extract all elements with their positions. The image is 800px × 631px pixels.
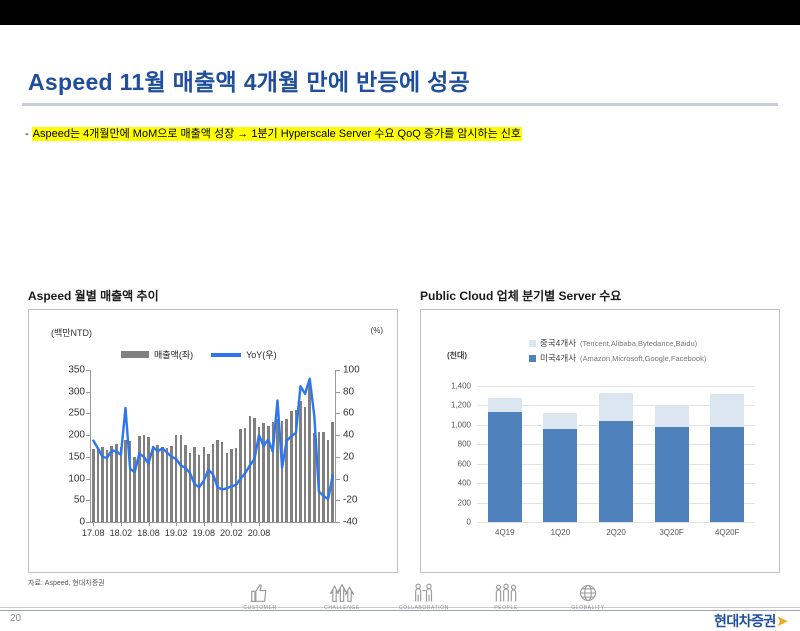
legend-sub-us: (Amazon,Microsoft,Google,Facebook) bbox=[580, 351, 706, 366]
legend-item-revenue: 매출액(좌) bbox=[121, 348, 193, 361]
y-tick-label: 1,400 bbox=[451, 382, 471, 391]
x-tick-label: 20.02 bbox=[220, 528, 243, 538]
y2-tickmark bbox=[336, 413, 340, 414]
bar-swatch-icon bbox=[121, 351, 149, 358]
y2-tickmark bbox=[336, 392, 340, 393]
logo-mark-icon: ➤ bbox=[776, 613, 788, 630]
people-together-icon bbox=[381, 583, 467, 605]
x-category-label: 2Q20 bbox=[606, 528, 626, 537]
core-value-people: PEOPLE bbox=[463, 583, 549, 611]
legend-item-yoy: YoY(우) bbox=[211, 348, 276, 361]
y2-tickmark bbox=[336, 435, 340, 436]
right-y-tick: 0 bbox=[343, 473, 349, 484]
y-tick-label: 800 bbox=[458, 440, 471, 449]
bar-segment-us bbox=[599, 421, 633, 522]
gridline bbox=[477, 522, 755, 523]
right-chart-box: (천대) 중국4개사 (Tencent,Alibaba,Bytedance,Ba… bbox=[420, 309, 780, 573]
y2-tickmark bbox=[336, 457, 340, 458]
y-tickmark bbox=[86, 522, 90, 523]
core-values-row: CUSTOMERCHALLENGECOLLABORATIONPEOPLEGLOB… bbox=[240, 583, 570, 625]
x-tickmark bbox=[176, 522, 177, 526]
x-tickmark bbox=[93, 522, 94, 526]
y-tickmark bbox=[86, 370, 90, 371]
right-y-tick: 60 bbox=[343, 408, 354, 419]
bar-segment-us bbox=[543, 429, 577, 522]
legend-label-china: 중국4개사 bbox=[540, 336, 576, 351]
left-y-tick: 350 bbox=[68, 365, 85, 376]
y-tickmark bbox=[86, 500, 90, 501]
y-tick-label: 1,000 bbox=[451, 420, 471, 429]
y-tick-label: 400 bbox=[458, 479, 471, 488]
bar-segment-us bbox=[488, 412, 522, 522]
y-tickmark bbox=[86, 479, 90, 480]
y-tickmark bbox=[86, 392, 90, 393]
x-tick-label: 18.02 bbox=[110, 528, 133, 538]
left-chart-box: (백만NTD) (%) 매출액(좌) YoY(우) 05010015020025… bbox=[28, 309, 398, 573]
bar-segment-china bbox=[599, 393, 633, 421]
x-category-label: 4Q19 bbox=[495, 528, 515, 537]
right-chart-title: Public Cloud 업체 분기별 Server 수요 bbox=[420, 287, 780, 304]
x-tickmark bbox=[121, 522, 122, 526]
bullet-line: -Aspeed는 4개월만에 MoM으로 매출액 성장 → 1분기 Hypers… bbox=[25, 125, 522, 141]
stacked-bar bbox=[599, 393, 633, 522]
y2-tickmark bbox=[336, 500, 340, 501]
legend-label-yoy: YoY(우) bbox=[246, 348, 276, 361]
company-logo: 현대차증권➤ bbox=[714, 611, 788, 631]
legend-label-us: 미국4개사 bbox=[540, 351, 576, 366]
left-y-tick: 250 bbox=[68, 408, 85, 419]
right-axis-line bbox=[335, 370, 336, 522]
bar-segment-china bbox=[543, 413, 577, 429]
left-chart-plot-area: 050100150200250300350-40-200204060801001… bbox=[91, 370, 335, 522]
y-tickmark bbox=[86, 457, 90, 458]
thumbs-up-icon bbox=[217, 583, 303, 605]
x-tick-label: 19.02 bbox=[165, 528, 188, 538]
china-swatch-icon bbox=[529, 340, 536, 347]
gridline bbox=[477, 386, 755, 387]
stacked-bar bbox=[488, 398, 522, 522]
bar-segment-china bbox=[488, 398, 522, 412]
left-y-tick: 300 bbox=[68, 386, 85, 397]
x-category-label: 4Q20F bbox=[715, 528, 739, 537]
core-value-collaboration: COLLABORATION bbox=[381, 583, 467, 611]
bullet-highlighted-text: Aspeed는 4개월만에 MoM으로 매출액 성장 → 1분기 Hypersc… bbox=[32, 127, 522, 141]
footer-divider bbox=[0, 610, 800, 611]
x-tick-label: 19.08 bbox=[193, 528, 216, 538]
x-tickmark bbox=[149, 522, 150, 526]
right-chart-legend: 중국4개사 (Tencent,Alibaba,Bytedance,Baidu) … bbox=[529, 336, 706, 366]
left-y-tick: 0 bbox=[79, 517, 85, 528]
right-chart-y-unit: (천대) bbox=[447, 350, 467, 361]
left-y-tick: 50 bbox=[74, 495, 85, 506]
logo-text: 현대차증권 bbox=[714, 613, 776, 629]
right-y-tick: 80 bbox=[343, 386, 354, 397]
y-tickmark bbox=[86, 435, 90, 436]
left-chart-y2-unit: (%) bbox=[371, 326, 383, 335]
x-tick-label: 17.08 bbox=[82, 528, 105, 538]
top-black-bar bbox=[0, 0, 800, 25]
core-value-globality: GLOBALITY bbox=[545, 583, 631, 611]
y-tick-label: 600 bbox=[458, 459, 471, 468]
core-value-customer: CUSTOMER bbox=[217, 583, 303, 611]
legend-sub-china: (Tencent,Alibaba,Bytedance,Baidu) bbox=[580, 336, 697, 351]
left-chart-title: Aspeed 월별 매출액 추이 bbox=[28, 287, 398, 304]
right-chart-panel: Public Cloud 업체 분기별 Server 수요 (천대) 중국4개사… bbox=[420, 287, 780, 573]
right-y-tick: -20 bbox=[343, 495, 357, 506]
x-tickmark bbox=[204, 522, 205, 526]
y-tick-label: 0 bbox=[467, 518, 471, 527]
x-tick-label: 18.08 bbox=[137, 528, 160, 538]
bar-segment-us bbox=[710, 427, 744, 522]
page-number: 20 bbox=[10, 613, 21, 624]
right-y-tick: -40 bbox=[343, 517, 357, 528]
right-y-tick: 20 bbox=[343, 451, 354, 462]
left-chart-legend: 매출액(좌) YoY(우) bbox=[121, 348, 277, 361]
y2-tickmark bbox=[336, 522, 340, 523]
core-value-challenge: CHALLENGE bbox=[299, 583, 385, 611]
y-tick-label: 1,200 bbox=[451, 401, 471, 410]
x-category-label: 1Q20 bbox=[551, 528, 571, 537]
left-chart-panel: Aspeed 월별 매출액 추이 (백만NTD) (%) 매출액(좌) YoY(… bbox=[28, 287, 398, 588]
people-icon bbox=[463, 583, 549, 605]
stacked-bar bbox=[543, 413, 577, 522]
globe-icon bbox=[545, 583, 631, 605]
title-divider bbox=[22, 103, 778, 106]
slide-canvas: Aspeed 11월 매출액 4개월 만에 반등에 성공 -Aspeed는 4개… bbox=[0, 25, 800, 606]
bar-segment-china bbox=[710, 394, 744, 427]
right-y-tick: 100 bbox=[343, 365, 360, 376]
page-title: Aspeed 11월 매출액 4개월 만에 반등에 성공 bbox=[28, 63, 470, 97]
stacked-bar bbox=[710, 394, 744, 522]
x-category-label: 3Q20F bbox=[659, 528, 683, 537]
x-tickmark bbox=[231, 522, 232, 526]
bar-segment-us bbox=[655, 427, 689, 522]
legend-item-china: 중국4개사 (Tencent,Alibaba,Bytedance,Baidu) bbox=[529, 336, 706, 351]
left-chart-y-unit: (백만NTD) bbox=[51, 326, 92, 339]
left-y-tick: 100 bbox=[68, 473, 85, 484]
line-swatch-icon bbox=[211, 353, 241, 357]
y-tickmark bbox=[86, 413, 90, 414]
y2-tickmark bbox=[336, 479, 340, 480]
yoy-line-series bbox=[91, 370, 335, 522]
stacked-bar bbox=[655, 406, 689, 522]
left-y-tick: 150 bbox=[68, 451, 85, 462]
bullet-dash: - bbox=[25, 128, 29, 140]
y2-tickmark bbox=[336, 370, 340, 371]
x-axis-line bbox=[90, 522, 336, 523]
x-tickmark bbox=[259, 522, 260, 526]
x-tick-label: 20.08 bbox=[248, 528, 271, 538]
right-chart-plot-area: 02004006008001,0001,2001,4004Q191Q202Q20… bbox=[477, 386, 755, 522]
us-swatch-icon bbox=[529, 355, 536, 362]
legend-item-us: 미국4개사 (Amazon,Microsoft,Google,Facebook) bbox=[529, 351, 706, 366]
up-arrows-icon bbox=[299, 583, 385, 605]
y-tick-label: 200 bbox=[458, 498, 471, 507]
left-y-tick: 200 bbox=[68, 430, 85, 441]
legend-label-revenue: 매출액(좌) bbox=[154, 348, 193, 361]
bar-segment-china bbox=[655, 406, 689, 427]
right-y-tick: 40 bbox=[343, 430, 354, 441]
